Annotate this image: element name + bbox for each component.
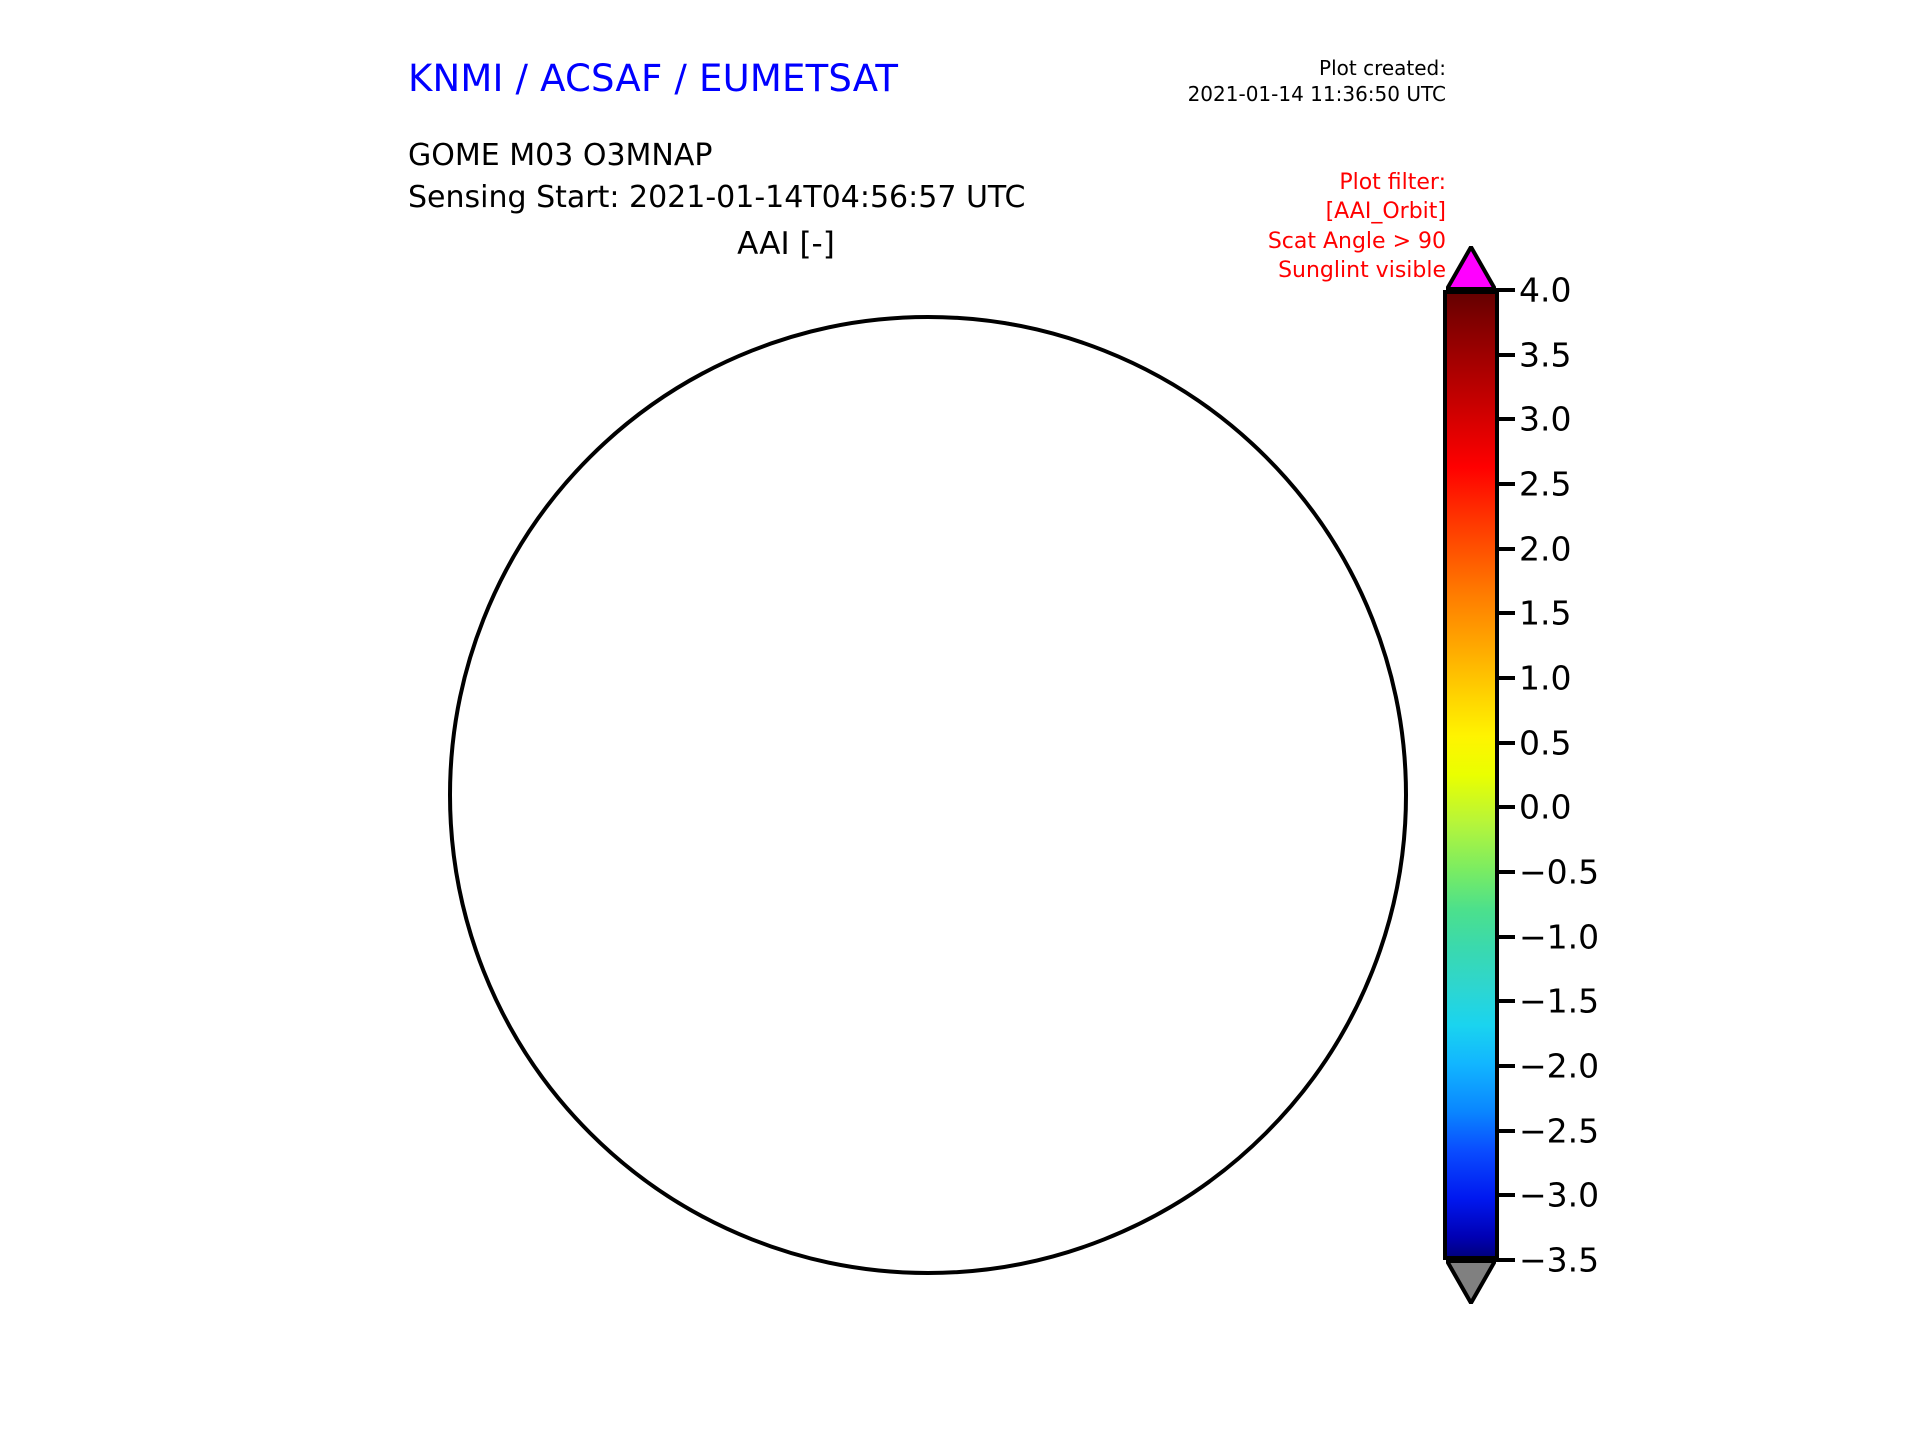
plot-filter-line-1: [AAI_Orbit] (1268, 197, 1446, 226)
colorbar-tick-label-2: 3.0 (1519, 403, 1571, 436)
colorbar-tick-label-8: 0.0 (1519, 791, 1571, 824)
colorbar-tick-1 (1495, 353, 1515, 357)
colorbar-tick-15 (1495, 1258, 1515, 1262)
plot-filter-block: Plot filter: [AAI_Orbit] Scat Angle > 90… (1268, 168, 1446, 285)
colorbar-tick-label-3: 2.5 (1519, 468, 1571, 501)
organisation-title: KNMI / ACSAF / EUMETSAT (408, 57, 898, 100)
colorbar-over-range-arrow (1446, 246, 1496, 290)
colorbar-tick-label-7: 0.5 (1519, 726, 1571, 759)
colorbar-tick-label-15: −3.5 (1519, 1244, 1599, 1277)
colorbar-tick-8 (1495, 805, 1515, 809)
colorbar-tick-label-12: −2.0 (1519, 1050, 1599, 1083)
colorbar-tick-3 (1495, 482, 1515, 486)
colorbar-tick-label-6: 1.0 (1519, 662, 1571, 695)
colorbar-tick-label-14: −3.0 (1519, 1179, 1599, 1212)
colorbar-tick-label-5: 1.5 (1519, 597, 1571, 630)
colorbar-tick-label-9: −0.5 (1519, 856, 1599, 889)
colorbar-under-range-arrow (1446, 1260, 1496, 1304)
colorbar-tick-13 (1495, 1129, 1515, 1133)
colorbar-tick-label-0: 4.0 (1519, 274, 1571, 307)
figure-canvas: KNMI / ACSAF / EUMETSAT GOME M03 O3MNAP … (0, 0, 1920, 1440)
plot-filter-line-2: Scat Angle > 90 (1268, 227, 1446, 256)
globe-boundary-circle (448, 315, 1408, 1275)
colorbar-tick-0 (1495, 288, 1515, 292)
colorbar-tick-5 (1495, 611, 1515, 615)
colorbar-tick-label-13: −2.5 (1519, 1114, 1599, 1147)
colorbar-tick-label-1: 3.5 (1519, 338, 1571, 371)
colorbar: 4.03.53.02.52.01.51.00.50.0−0.5−1.0−1.5−… (1443, 290, 1499, 1260)
colorbar-tick-label-11: −1.5 (1519, 985, 1599, 1018)
colorbar-tick-2 (1495, 417, 1515, 421)
colorbar-tick-7 (1495, 741, 1515, 745)
colorbar-tick-layer: 4.03.53.02.52.01.51.00.50.0−0.5−1.0−1.5−… (1443, 290, 1673, 1260)
product-name: GOME M03 O3MNAP (408, 138, 712, 173)
colorbar-tick-label-4: 2.0 (1519, 532, 1571, 565)
colorbar-tick-14 (1495, 1193, 1515, 1197)
plot-created-timestamp: 2021-01-14 11:36:50 UTC (1188, 82, 1446, 108)
plot-filter-line-0: Plot filter: (1268, 168, 1446, 197)
plot-filter-line-3: Sunglint visible (1268, 256, 1446, 285)
plot-created-block: Plot created: 2021-01-14 11:36:50 UTC (1188, 56, 1446, 107)
plot-created-label: Plot created: (1188, 56, 1446, 82)
colorbar-tick-9 (1495, 870, 1515, 874)
colorbar-tick-6 (1495, 676, 1515, 680)
colorbar-tick-12 (1495, 1064, 1515, 1068)
colorbar-tick-11 (1495, 999, 1515, 1003)
sensing-start-label: Sensing Start: 2021-01-14T04:56:57 UTC (408, 180, 1025, 215)
plot-title-text: AAI [-] (737, 226, 835, 262)
plot-title: AAI [-] (0, 226, 1920, 262)
colorbar-tick-4 (1495, 547, 1515, 551)
map-panel (448, 315, 1408, 1275)
colorbar-tick-10 (1495, 935, 1515, 939)
colorbar-tick-label-10: −1.0 (1519, 920, 1599, 953)
